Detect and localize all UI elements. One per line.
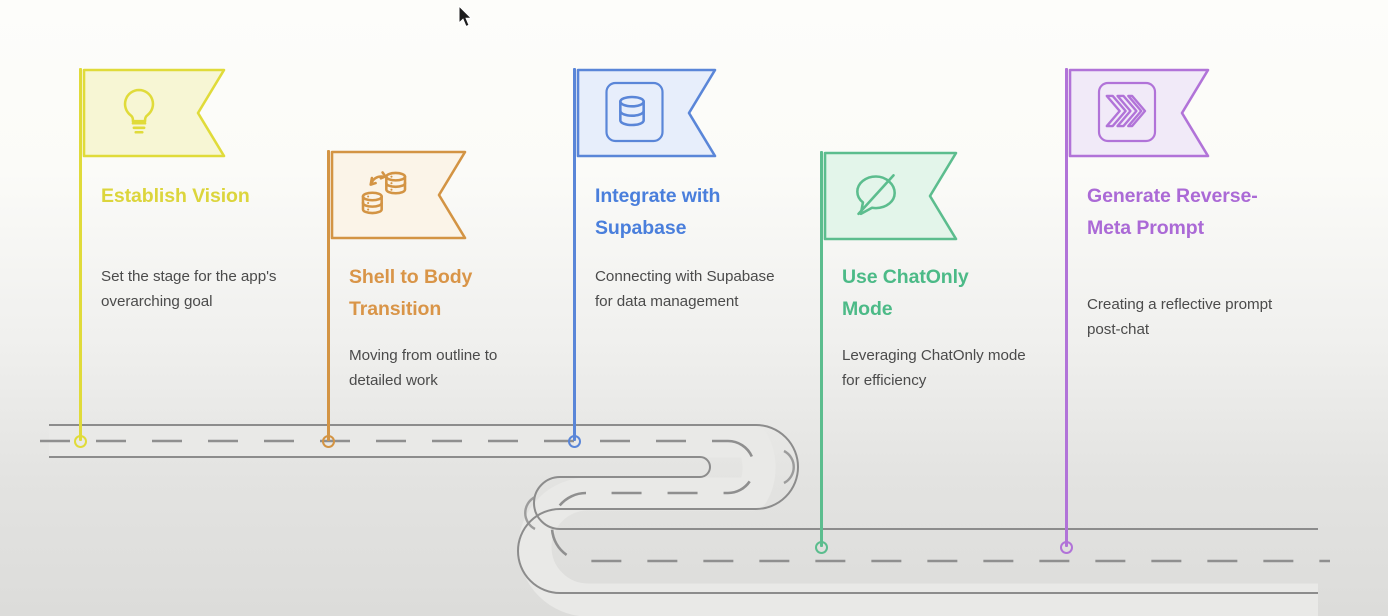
milestone-title: Establish Vision xyxy=(101,180,281,212)
milestone-title: Generate Reverse-Meta Prompt xyxy=(1087,180,1267,244)
milestone-flag[interactable] xyxy=(823,151,958,237)
milestone-title: Shell to Body Transition xyxy=(349,261,529,325)
roadmap-canvas: Establish VisionSet the stage for the ap… xyxy=(0,0,1388,616)
chat-bubble-slash-icon xyxy=(848,166,904,222)
hairpin-tick-left xyxy=(525,497,535,529)
road-marker-use-chatonly-mode[interactable] xyxy=(815,541,828,554)
database-transfer-icon xyxy=(356,165,412,221)
milestone-description: Set the stage for the app's overarching … xyxy=(101,265,297,315)
road-marker-shell-to-body-transition[interactable] xyxy=(322,435,335,448)
milestone-flag[interactable] xyxy=(1068,68,1210,154)
milestone-flag[interactable] xyxy=(330,150,467,236)
milestone-flag[interactable] xyxy=(82,68,226,154)
road-hairpin-left xyxy=(518,477,1318,593)
database-cylinder-icon xyxy=(604,83,660,139)
road-marker-integrate-with-supabase[interactable] xyxy=(568,435,581,448)
milestone-description: Connecting with Supabase for data manage… xyxy=(595,265,791,315)
milestone-description: Creating a reflective prompt post-chat xyxy=(1087,293,1283,343)
road-center-dashes xyxy=(40,441,1330,561)
milestone-title: Integrate with Supabase xyxy=(595,180,775,244)
lightbulb-icon xyxy=(111,83,167,139)
milestone-flag[interactable] xyxy=(576,68,717,154)
hairpin-tick-right xyxy=(784,451,794,483)
triple-chevron-icon xyxy=(1096,83,1152,139)
milestone-description: Moving from outline to detailed work xyxy=(349,344,545,394)
milestone-title: Use ChatOnly Mode xyxy=(842,261,1022,325)
road-marker-establish-vision[interactable] xyxy=(74,435,87,448)
road-upper-lane xyxy=(49,425,756,457)
road-marker-generate-reverse-meta-prompt[interactable] xyxy=(1060,541,1073,554)
road-hairpin-right xyxy=(560,425,798,509)
milestone-description: Leveraging ChatOnly mode for efficiency xyxy=(842,344,1038,394)
arrow-cursor xyxy=(458,6,474,30)
